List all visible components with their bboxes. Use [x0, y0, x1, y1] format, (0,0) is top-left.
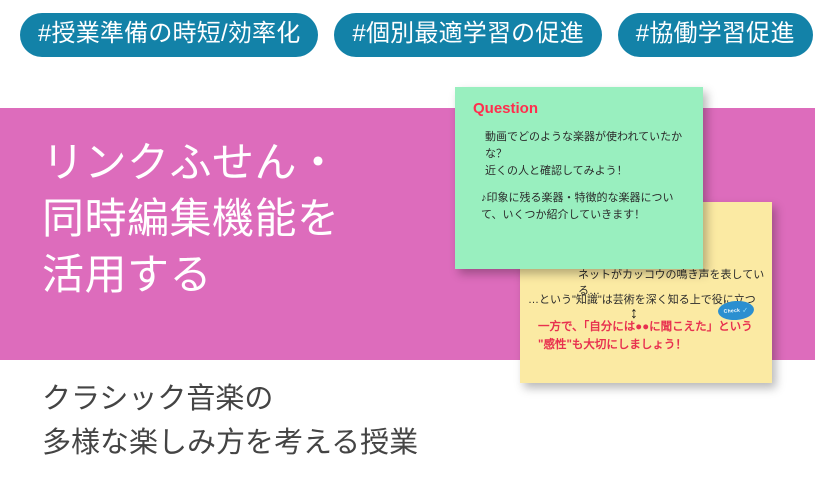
- tag-pill-2[interactable]: #個別最適学習の促進: [334, 13, 601, 57]
- green-note-heading: Question: [473, 100, 689, 118]
- tag-pill-1[interactable]: #授業準備の時短/効率化: [20, 13, 318, 57]
- tag-pill-3[interactable]: #協働学習促進: [618, 13, 813, 57]
- sticky-note-green[interactable]: Question 動画でどのような楽器が使われていたかな？ 近くの人と確認してみ…: [455, 87, 703, 269]
- check-mark-icon: ✓: [742, 306, 749, 314]
- tag-row: #授業準備の時短/効率化 #個別最適学習の促進 #協働学習促進: [0, 0, 815, 70]
- slide-canvas: #授業準備の時短/効率化 #個別最適学習の促進 #協働学習促進 リンクふせん・ …: [0, 0, 815, 492]
- page-title: リンクふせん・ 同時編集機能を 活用する: [42, 135, 442, 303]
- green-note-body-1: 動画でどのような楽器が使われていたかな？ 近くの人と確認してみよう！: [473, 129, 689, 180]
- page-subtitle: クラシック音楽の 多様な楽しみ方を考える授業: [42, 377, 512, 465]
- check-badge-label: Check: [723, 307, 740, 314]
- green-note-body-2: ♪印象に残る楽器・特徴的な楽器につい て、いくつか紹介していきます！: [473, 190, 689, 224]
- yellow-note-red-text: 一方で、「自分には●●に聞こえた」という "感性"も大切にしましょう！: [538, 319, 768, 355]
